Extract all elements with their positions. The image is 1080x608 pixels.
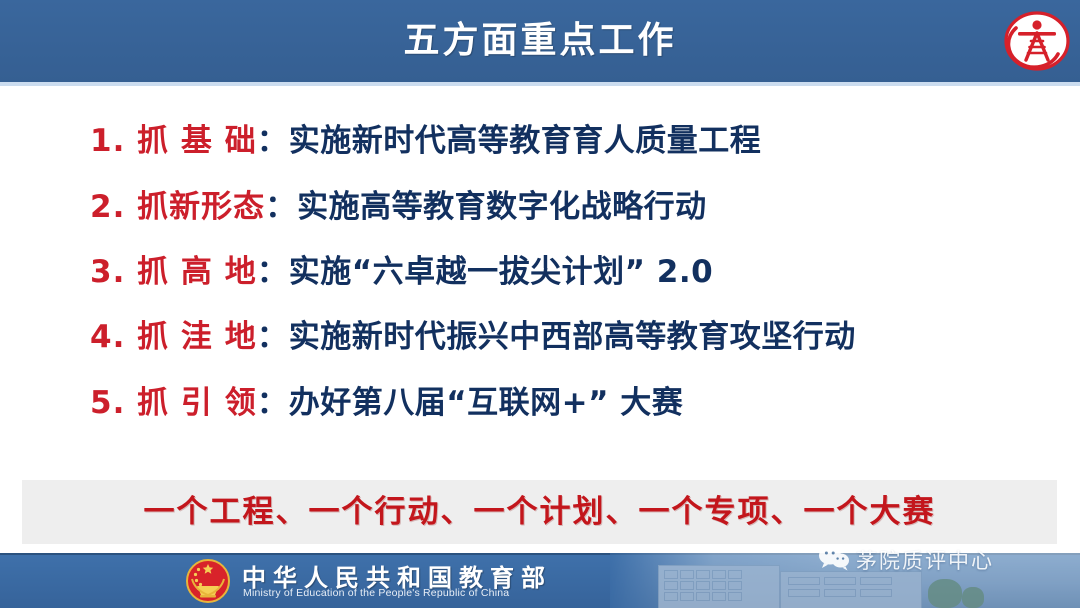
list-item-lead: 1. 抓 基 础 [90, 123, 257, 159]
list-item-text: 实施“六卓越一拔尖计划” 2.0 [289, 254, 713, 290]
list-item-lead: 5. 抓 引 领 [90, 385, 257, 421]
list-item: 4. 抓 洼 地：实施新时代振兴中西部高等教育攻坚行动 [90, 314, 856, 360]
ministry-name-en: Ministry of Education of the People's Re… [243, 587, 509, 599]
list-item-lead: 4. 抓 洼 地 [90, 319, 257, 355]
list-item: 2. 抓新形态：实施高等教育数字化战略行动 [90, 184, 707, 230]
china-national-emblem-icon [186, 559, 230, 603]
bullet-list: 1. 抓 基 础：实施新时代高等教育育人质量工程 2. 抓新形态：实施高等教育数… [0, 90, 1080, 470]
list-item-text: 实施新时代振兴中西部高等教育攻坚行动 [289, 319, 856, 355]
list-item-colon: ： [257, 385, 288, 421]
wechat-icon [818, 545, 850, 571]
tower-emblem-icon [1002, 6, 1072, 76]
header-underline [0, 82, 1080, 86]
list-item-text: 实施高等教育数字化战略行动 [297, 189, 707, 225]
list-item-colon: ： [265, 189, 296, 225]
page-title: 五方面重点工作 [0, 12, 1080, 70]
list-item-colon: ： [257, 123, 288, 159]
summary-band: 一个工程、一个行动、一个计划、一个专项、一个大赛 [22, 480, 1057, 544]
list-item-lead: 3. 抓 高 地 [90, 254, 257, 290]
list-item-colon: ： [257, 254, 288, 290]
list-item: 5. 抓 引 领：办好第八届“互联网+” 大赛 [90, 380, 683, 426]
list-item: 1. 抓 基 础：实施新时代高等教育育人质量工程 [90, 118, 761, 164]
list-item-lead: 2. 抓新形态 [90, 189, 265, 225]
list-item-text: 实施新时代高等教育育人质量工程 [289, 123, 762, 159]
list-item: 3. 抓 高 地：实施“六卓越一拔尖计划” 2.0 [90, 249, 713, 295]
list-item-colon: ： [257, 319, 288, 355]
summary-text: 一个工程、一个行动、一个计划、一个专项、一个大赛 [22, 480, 1057, 544]
watermark-text: 茅院质评中心 [856, 545, 994, 575]
list-item-text: 办好第八届“互联网+” 大赛 [289, 385, 684, 421]
